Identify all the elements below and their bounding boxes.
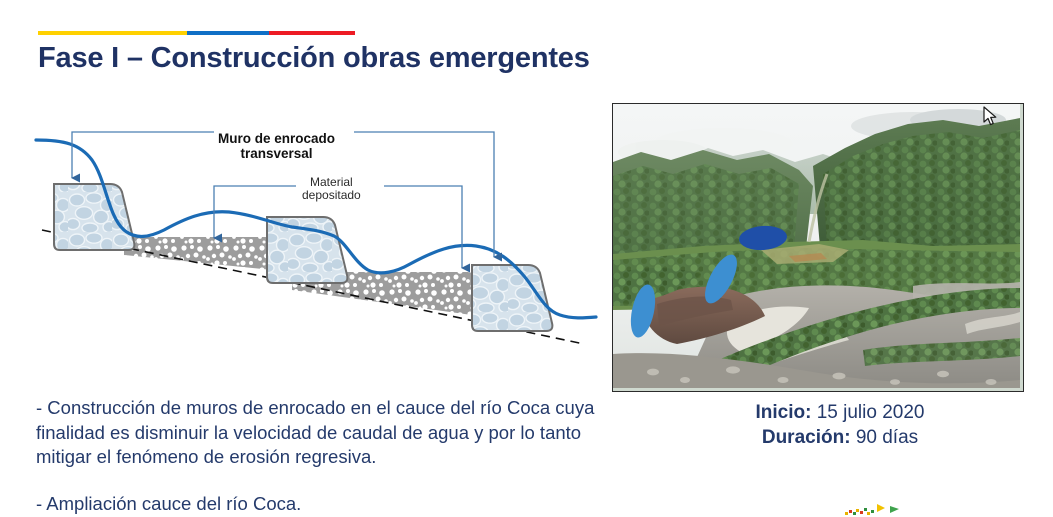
diagram-rockfill-weirs: Muro de enrocado transversal Material de…	[24, 112, 604, 382]
bullet-item: - Ampliación cauce del río Coca.	[36, 492, 621, 517]
schedule-start-label: Inicio:	[756, 402, 812, 423]
diagram-label-weir-line1: Muro de enrocado	[218, 131, 335, 146]
page-title: Fase I – Construcción obras emergentes	[38, 42, 590, 75]
accent-bar-segment-yellow	[38, 31, 187, 35]
corner-logo-fragment	[843, 500, 923, 517]
schedule-block: Inicio: 15 julio 2020 Duración: 90 días	[690, 400, 990, 450]
diagram-label-weir-line2: transversal	[240, 146, 312, 161]
bullet-item: - Construcción de muros de enrocado en e…	[36, 396, 621, 470]
rockfill-dam-1	[54, 184, 134, 250]
schedule-start-value: 15 julio 2020	[817, 402, 925, 423]
accent-bar-segment-blue	[187, 31, 269, 35]
accent-bar-segment-red	[269, 31, 355, 35]
diagram-label-sediment-line1: Material	[310, 175, 353, 189]
rockfill-dam-2	[267, 217, 347, 283]
accent-bar	[38, 31, 355, 35]
diagram-label-sediment: Material depositado	[302, 176, 361, 203]
diagram-label-sediment-line2: depositado	[302, 188, 361, 202]
schedule-duration-row: Duración: 90 días	[690, 425, 990, 450]
diagram-label-weir: Muro de enrocado transversal	[218, 131, 335, 161]
aerial-river-valley-photo	[612, 103, 1024, 392]
schedule-duration-label: Duración:	[762, 427, 851, 448]
schedule-duration-value: 90 días	[856, 427, 918, 448]
body-text: - Construcción de muros de enrocado en e…	[36, 396, 621, 516]
schedule-start-row: Inicio: 15 julio 2020	[690, 400, 990, 425]
